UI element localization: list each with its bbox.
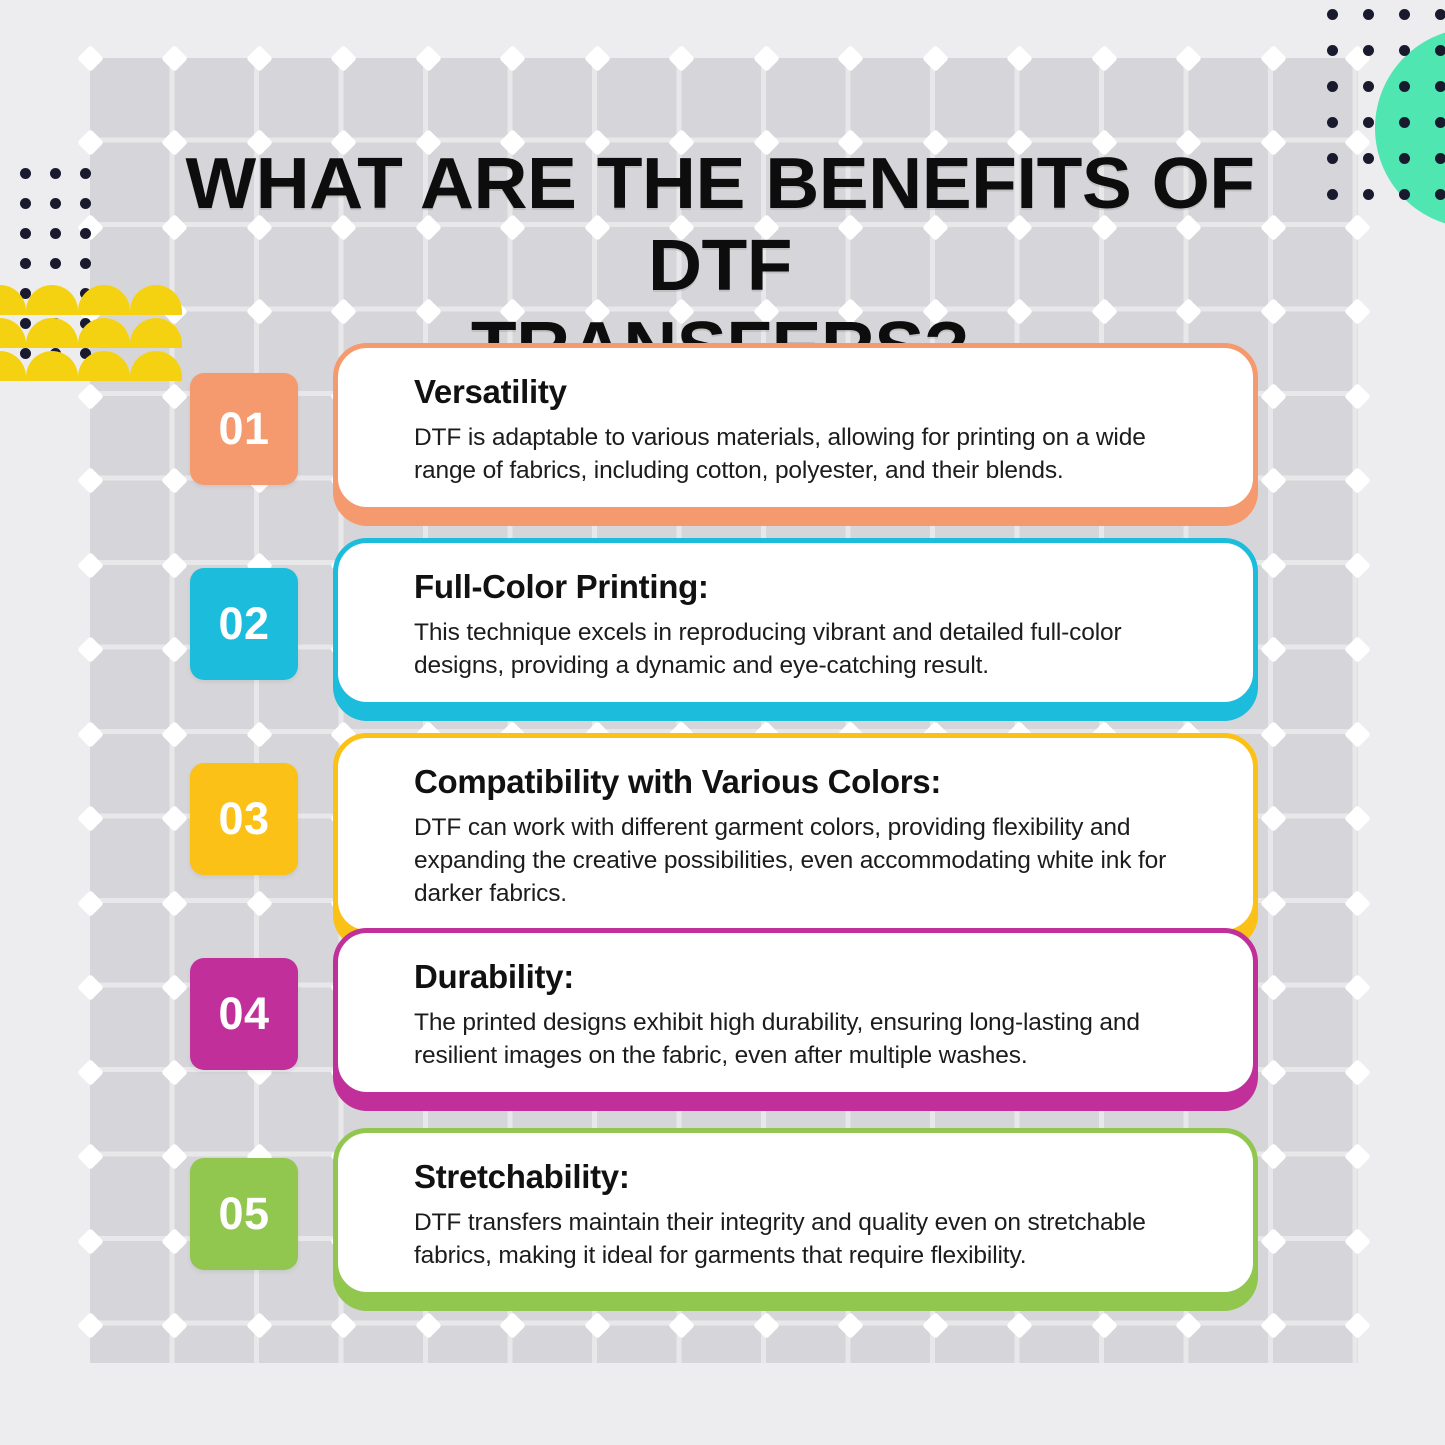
decorative-dot	[1327, 81, 1338, 92]
decorative-dot	[1435, 9, 1445, 20]
benefit-number-badge: 05	[190, 1158, 298, 1270]
yellow-semicircle	[78, 318, 130, 348]
decorative-dot	[1363, 81, 1374, 92]
benefit-row: 04Durability:The printed designs exhibit…	[0, 958, 1445, 1133]
benefit-number-badge: 02	[190, 568, 298, 680]
benefit-description: This technique excels in reproducing vib…	[414, 616, 1211, 682]
benefit-heading: Versatility	[414, 372, 1211, 412]
yellow-semicircle	[78, 285, 130, 315]
benefit-number-badge: 01	[190, 373, 298, 485]
decorative-dot	[80, 318, 91, 329]
grid-diamond	[246, 45, 273, 72]
benefit-heading: Compatibility with Various Colors:	[414, 762, 1211, 802]
decorative-dot	[80, 198, 91, 209]
decorative-dot	[1327, 189, 1338, 200]
decorative-dot	[20, 198, 31, 209]
grid-diamond	[1344, 214, 1371, 241]
grid-diamond	[668, 45, 695, 72]
grid-diamond	[922, 45, 949, 72]
benefit-heading: Full-Color Printing:	[414, 567, 1211, 607]
decorative-dot	[80, 288, 91, 299]
decorative-dot	[50, 288, 61, 299]
grid-diamond	[1260, 45, 1287, 72]
decorative-dot	[1435, 117, 1445, 128]
infographic-poster: WHAT ARE THE BENEFITS OF DTF TRANSFERS? …	[0, 0, 1445, 1445]
yellow-semicircle	[26, 318, 78, 348]
benefit-card: VersatilityDTF is adaptable to various m…	[333, 343, 1258, 512]
benefit-row: 01VersatilityDTF is adaptable to various…	[0, 373, 1445, 548]
decorative-dot	[1399, 9, 1410, 20]
decorative-dot	[20, 258, 31, 269]
decorative-dot	[1399, 117, 1410, 128]
benefit-number-badge: 04	[190, 958, 298, 1070]
yellow-semicircle	[0, 318, 26, 348]
benefit-row: 05Stretchability:DTF transfers maintain …	[0, 1158, 1445, 1333]
decorative-dot	[1399, 189, 1410, 200]
decorative-dot	[1435, 81, 1445, 92]
benefit-card: Compatibility with Various Colors:DTF ca…	[333, 733, 1258, 935]
grid-diamond	[77, 298, 104, 325]
grid-diamond	[1175, 45, 1202, 72]
benefit-description: DTF transfers maintain their integrity a…	[414, 1206, 1211, 1272]
grid-diamond	[1344, 298, 1371, 325]
decorative-dot	[1363, 45, 1374, 56]
grid-diamond	[415, 45, 442, 72]
benefit-description: The printed designs exhibit high durabil…	[414, 1006, 1211, 1072]
grid-diamond	[77, 129, 104, 156]
decorative-dot	[50, 348, 61, 359]
decorative-dot	[1327, 117, 1338, 128]
decorative-dot	[50, 228, 61, 239]
teal-circle-decoration	[1375, 28, 1445, 228]
grid-diamond	[1006, 45, 1033, 72]
grid-diamond	[753, 45, 780, 72]
yellow-semicircle	[26, 285, 78, 315]
yellow-semicircle	[0, 285, 26, 315]
grid-diamond	[584, 45, 611, 72]
decorative-dot	[1399, 45, 1410, 56]
grid-diamond	[1344, 129, 1371, 156]
decorative-dot	[1327, 45, 1338, 56]
decorative-dot	[50, 258, 61, 269]
decorative-dot	[80, 348, 91, 359]
decorative-dot	[20, 228, 31, 239]
benefit-number-badge: 03	[190, 763, 298, 875]
decorative-dot	[20, 348, 31, 359]
benefit-description: DTF can work with different garment colo…	[414, 811, 1211, 910]
decorative-dot	[1435, 189, 1445, 200]
decorative-dot	[1399, 81, 1410, 92]
decorative-dot	[1327, 9, 1338, 20]
benefit-heading: Durability:	[414, 957, 1211, 997]
grid-diamond	[161, 45, 188, 72]
decorative-dot	[20, 168, 31, 179]
grid-diamond	[499, 45, 526, 72]
decorative-dot	[1363, 117, 1374, 128]
decorative-dot	[50, 168, 61, 179]
benefit-description: DTF is adaptable to various materials, a…	[414, 421, 1211, 487]
grid-diamond	[1344, 45, 1371, 72]
benefit-card: Stretchability:DTF transfers maintain th…	[333, 1128, 1258, 1297]
grid-diamond	[330, 45, 357, 72]
benefit-card: Durability:The printed designs exhibit h…	[333, 928, 1258, 1097]
decorative-dot	[1327, 153, 1338, 164]
decorative-dot	[1435, 153, 1445, 164]
benefit-heading: Stretchability:	[414, 1157, 1211, 1197]
grid-diamond	[77, 214, 104, 241]
grid-diamond	[77, 45, 104, 72]
decorative-dot	[50, 198, 61, 209]
decorative-dot	[1363, 153, 1374, 164]
decorative-dot	[1363, 9, 1374, 20]
benefit-row: 03Compatibility with Various Colors:DTF …	[0, 763, 1445, 938]
decorative-dot	[1363, 189, 1374, 200]
decorative-dot	[80, 168, 91, 179]
decorative-dot	[1435, 45, 1445, 56]
decorative-dot	[20, 318, 31, 329]
grid-diamond	[837, 45, 864, 72]
decorative-dot	[80, 228, 91, 239]
benefit-row: 02Full-Color Printing:This technique exc…	[0, 568, 1445, 743]
decorative-dot	[20, 288, 31, 299]
grid-diamond	[1091, 45, 1118, 72]
page-title-line-1: WHAT ARE THE BENEFITS OF DTF	[185, 144, 1254, 306]
decorative-dot	[1399, 153, 1410, 164]
decorative-dot	[50, 318, 61, 329]
decorative-dot	[80, 258, 91, 269]
benefit-card: Full-Color Printing:This technique excel…	[333, 538, 1258, 707]
